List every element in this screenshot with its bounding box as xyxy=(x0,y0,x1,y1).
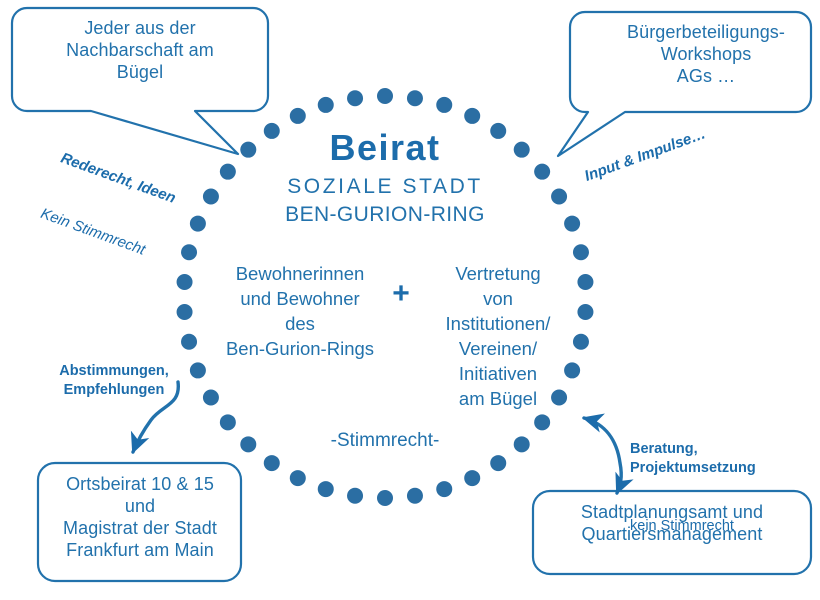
ring-dot xyxy=(203,390,219,406)
callout-bottom-right-text: Stadtplanungsamt und Quartiersmanagement xyxy=(534,502,810,546)
ring-dot xyxy=(464,108,480,124)
ring-dot xyxy=(190,362,206,378)
ring-dot xyxy=(203,189,219,205)
ring-dot xyxy=(490,455,506,471)
ring-dot xyxy=(377,88,393,104)
ring-dot xyxy=(240,436,256,452)
tail-label-regular: Kein Stimmrecht xyxy=(38,204,158,264)
callout-top-left-text: Jeder aus der Nachbarschaft am Bügel xyxy=(34,18,246,84)
arrow-label-bottom-right: Beratung, Projektumsetzung kein Stimmrec… xyxy=(630,402,790,574)
ring-dot xyxy=(318,481,334,497)
tail-label-bold: Rederecht, Ideen xyxy=(58,149,178,209)
page-title: Beirat xyxy=(285,126,485,170)
arrow-beratung xyxy=(584,418,621,493)
ring-dot xyxy=(407,90,423,106)
ring-dot xyxy=(318,97,334,113)
ring-dot xyxy=(220,164,236,180)
ring-dot xyxy=(514,436,530,452)
ring-dot xyxy=(377,490,393,506)
ring-dot xyxy=(514,142,530,158)
ring-dot xyxy=(347,488,363,504)
ring-dot xyxy=(534,164,550,180)
ring-dot xyxy=(290,108,306,124)
arrow-label-bottom-left: Abstimmungen, Empfehlungen xyxy=(44,362,184,400)
ring-dot xyxy=(290,470,306,486)
ring-dot xyxy=(181,334,197,350)
page-subtitle-2: BEN-GURION-RING xyxy=(272,202,498,228)
ring-dot xyxy=(573,244,589,260)
ring-dot xyxy=(264,455,280,471)
ring-dot xyxy=(436,481,452,497)
ring-dot xyxy=(490,123,506,139)
ring-dot xyxy=(577,274,593,290)
ring-dot xyxy=(573,334,589,350)
center-left-column: Bewohnerinnen und Bewohner des Ben-Gurio… xyxy=(215,262,385,362)
ring-dot xyxy=(436,97,452,113)
center-footnote: -Stimmrecht- xyxy=(320,429,450,452)
ring-dot xyxy=(551,189,567,205)
ring-dot xyxy=(577,304,593,320)
center-right-column: Vertretung von Institutionen/ Vereinen/ … xyxy=(424,262,572,412)
ring-dot xyxy=(564,216,580,232)
ring-dot xyxy=(407,488,423,504)
arrow-label-bold: Beratung, Projektumsetzung xyxy=(630,440,790,478)
ring-dot xyxy=(264,123,280,139)
ring-dot xyxy=(181,244,197,260)
plus-icon: + xyxy=(387,276,415,313)
ring-dot xyxy=(240,142,256,158)
ring-dot xyxy=(534,414,550,430)
callout-top-right-text: Bürgerbeteiligungs- Workshops AGs … xyxy=(602,22,810,88)
ring-dot xyxy=(464,470,480,486)
ring-dot xyxy=(177,304,193,320)
page-subtitle-1: SOZIALE STADT xyxy=(275,174,495,200)
ring-dot xyxy=(220,414,236,430)
ring-dot xyxy=(190,216,206,232)
ring-dot xyxy=(177,274,193,290)
diagram-canvas: Jeder aus der Nachbarschaft am Bügel Red… xyxy=(0,0,820,600)
callout-bottom-left-text: Ortsbeirat 10 & 15 und Magistrat der Sta… xyxy=(36,474,244,562)
ring-dot xyxy=(347,90,363,106)
